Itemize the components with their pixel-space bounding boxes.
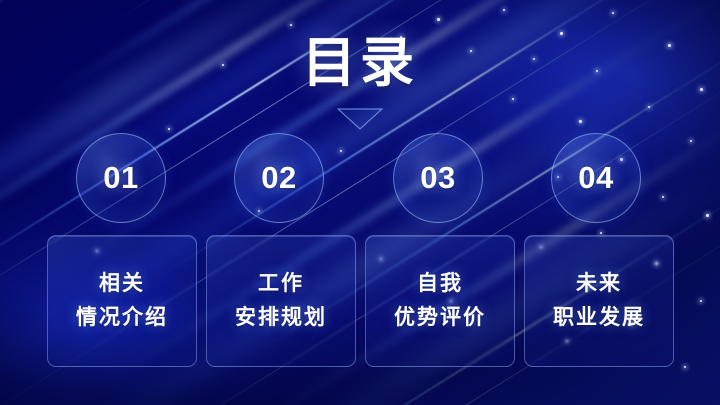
presentation-slide: 目录 01 02 03 04 相关 情况介绍 工作 安排规划 自我 优势评价	[0, 0, 720, 405]
section-circle-04[interactable]: 04	[551, 133, 641, 223]
section-number: 03	[420, 160, 455, 196]
section-number: 01	[103, 160, 138, 196]
chevron-down-icon	[337, 108, 383, 130]
section-circle-01[interactable]: 01	[76, 133, 166, 223]
section-number: 04	[578, 160, 613, 196]
section-number: 02	[261, 160, 296, 196]
section-circle-03[interactable]: 03	[393, 133, 483, 223]
section-circle-02[interactable]: 02	[234, 133, 324, 223]
page-title: 目录	[0, 33, 720, 93]
